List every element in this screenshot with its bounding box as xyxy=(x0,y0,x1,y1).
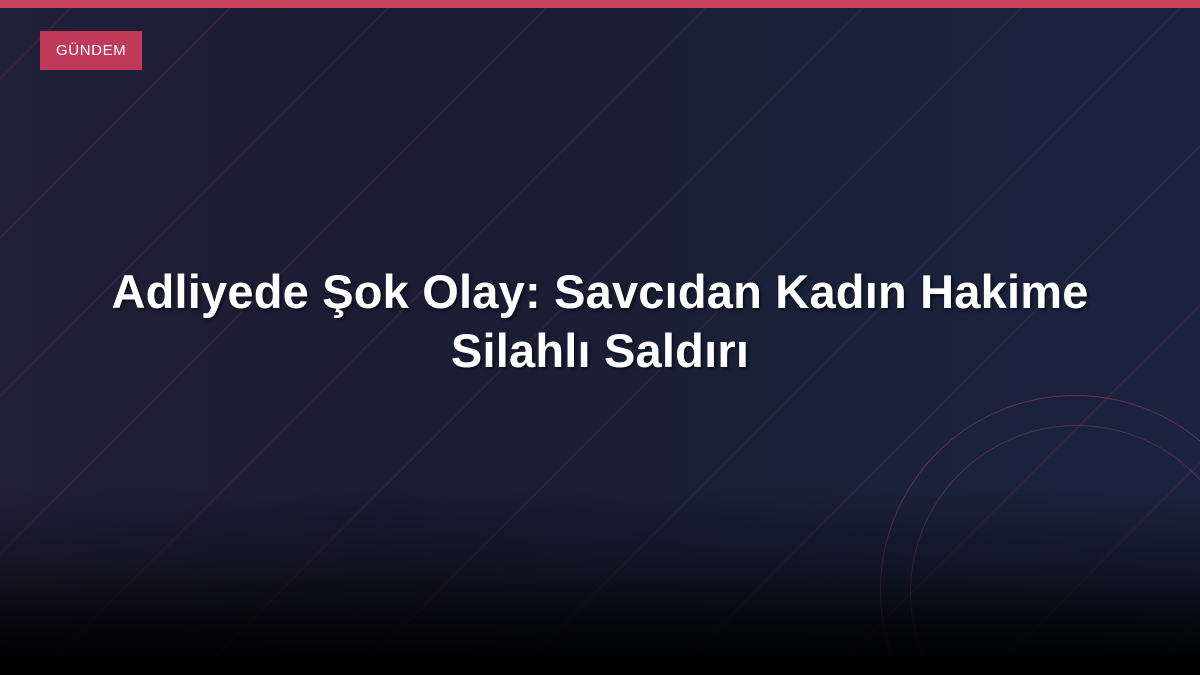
category-badge[interactable]: GÜNDEM xyxy=(40,31,142,70)
news-headline-card: GÜNDEM Adliyede Şok Olay: Savcıdan Kadın… xyxy=(0,0,1200,675)
headline-container: Adliyede Şok Olay: Savcıdan Kadın Hakime… xyxy=(0,262,1200,380)
top-accent-bar xyxy=(0,0,1200,8)
category-badge-label: GÜNDEM xyxy=(56,42,126,59)
page-title: Adliyede Şok Olay: Savcıdan Kadın Hakime… xyxy=(95,262,1105,380)
background-bottom-fade xyxy=(0,485,1200,675)
